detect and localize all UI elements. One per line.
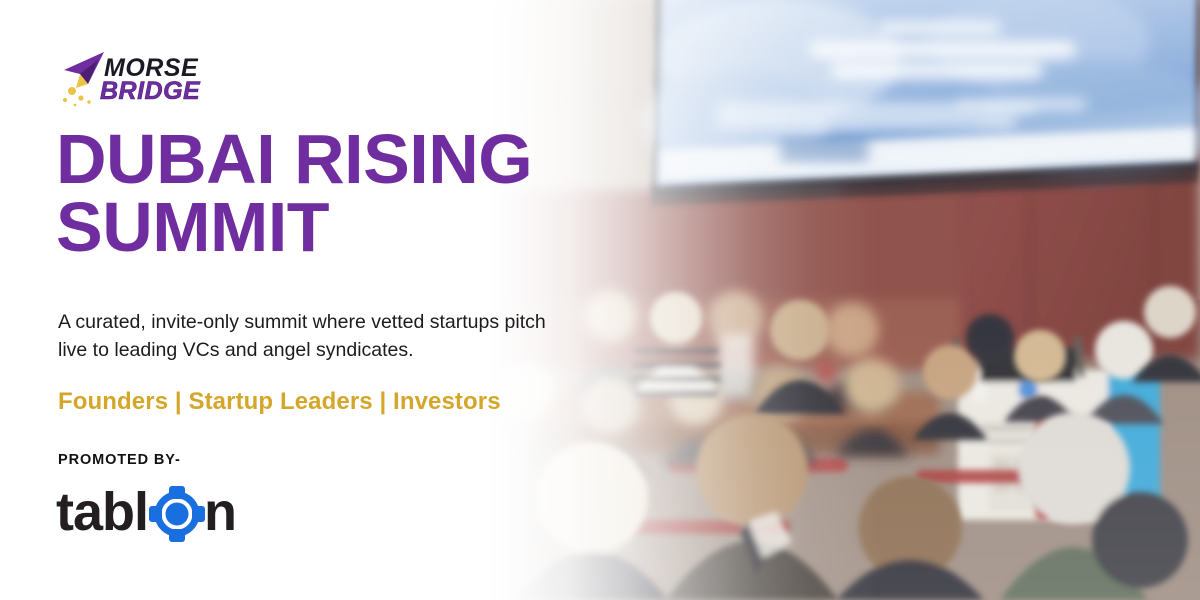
paper-plane-icon (64, 52, 104, 88)
morse-bridge-logo[interactable]: MORSE BRIDGE (58, 50, 258, 108)
event-banner: MORSE BRIDGE DUBAI RISING SUMMIT A curat… (0, 0, 1200, 600)
sponsor-text-before: tabl (56, 482, 148, 542)
target-audience-line: Founders | Startup Leaders | Investors (58, 388, 501, 416)
sparkle-dots-icon (63, 87, 91, 106)
banner-content: MORSE BRIDGE DUBAI RISING SUMMIT A curat… (0, 0, 620, 600)
promoted-by-label: PROMOTED BY- (58, 452, 181, 468)
tablon-aperture-icon (149, 486, 205, 542)
sponsor-logo-tablon[interactable]: tabl n (54, 480, 264, 546)
sponsor-text-after: n (204, 482, 236, 542)
logo-line-bridge: BRIDGE (100, 77, 201, 105)
event-description: A curated, invite-only summit where vett… (58, 309, 578, 364)
event-title: DUBAI RISING SUMMIT (56, 126, 656, 262)
tablon-logo-svg: tabl n (54, 480, 264, 546)
morse-bridge-logo-svg: MORSE BRIDGE (58, 50, 258, 108)
